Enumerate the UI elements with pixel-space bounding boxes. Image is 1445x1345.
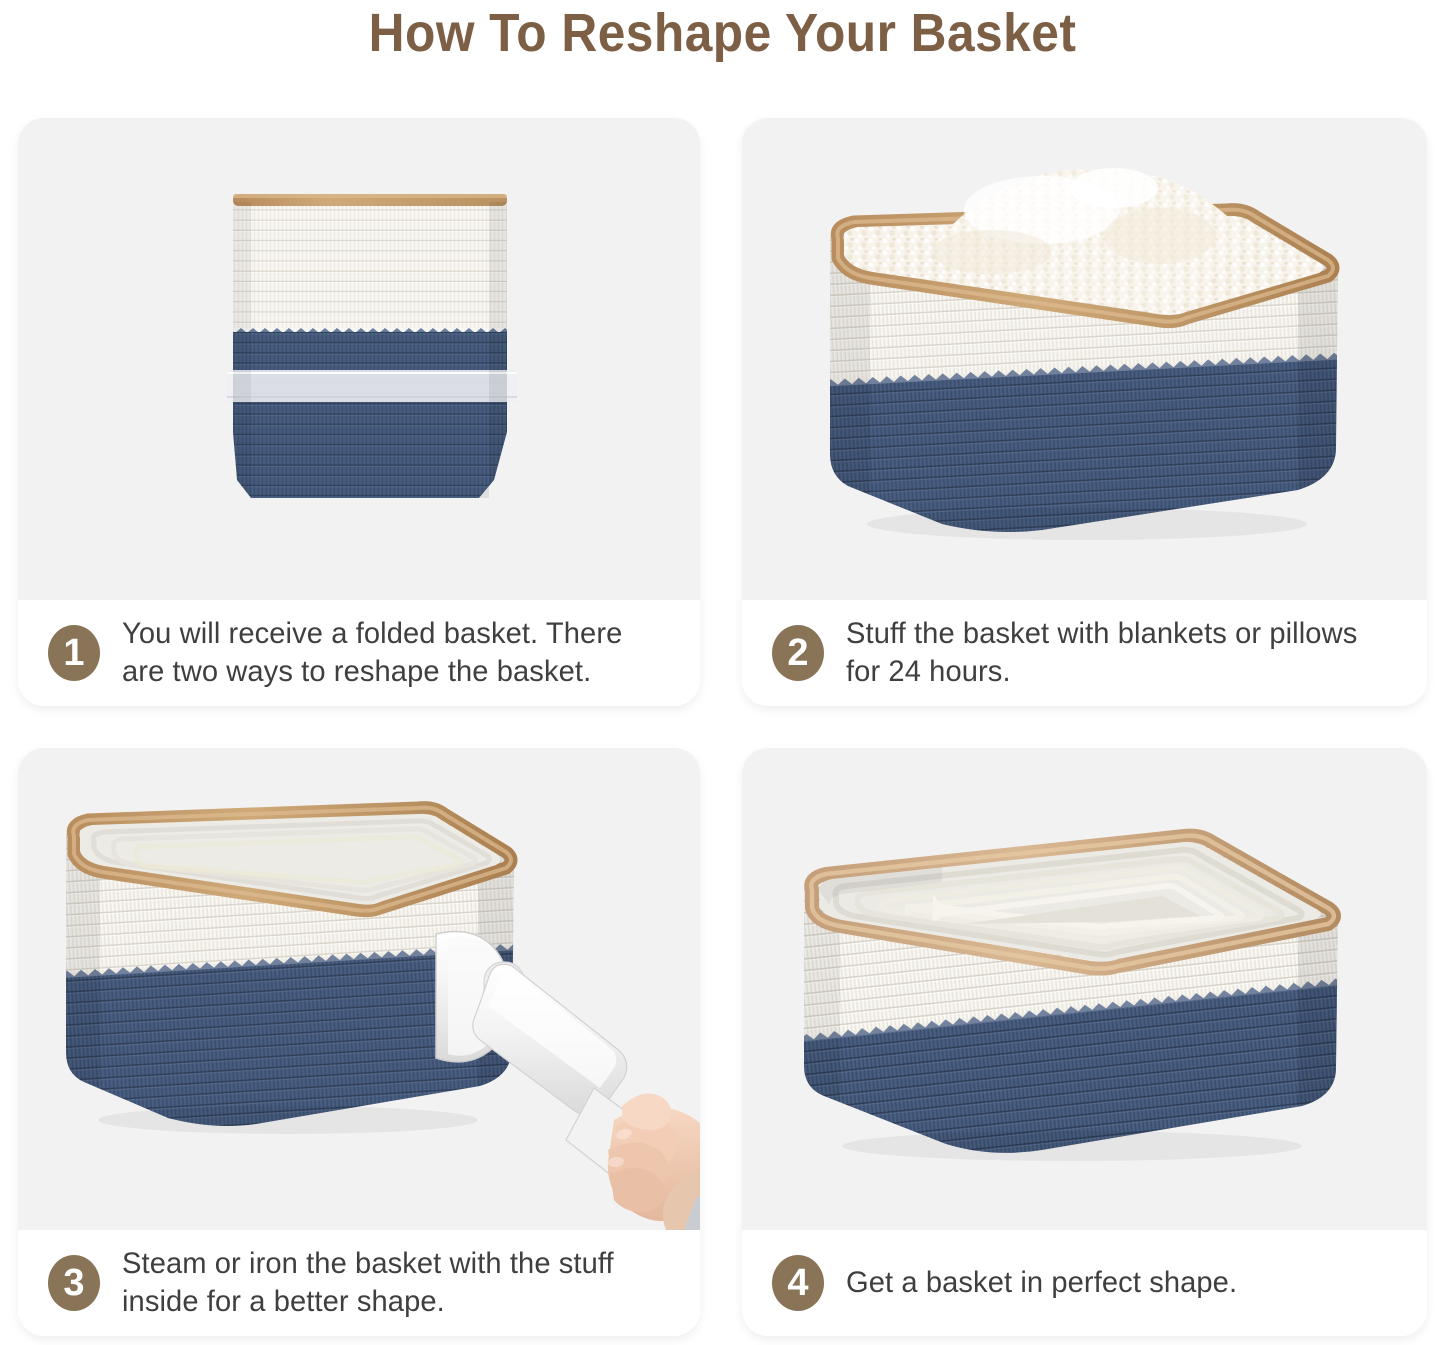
step-caption-2: 2 Stuff the basket with blankets or pill… [742,600,1427,706]
step-card-1[interactable]: 1 You will receive a folded basket. Ther… [18,118,700,706]
folded-basket-photo [18,118,700,600]
step-caption-4: 4 Get a basket in perfect shape. [742,1230,1427,1336]
step-card-4[interactable]: 4 Get a basket in perfect shape. [742,748,1427,1336]
step-caption-text-3: Steam or iron the basket with the stuff … [122,1245,657,1321]
step-caption-1: 1 You will receive a folded basket. Ther… [18,600,700,706]
step-caption-3: 3 Steam or iron the basket with the stuf… [18,1230,700,1336]
finished-basket-photo [742,748,1427,1230]
step-caption-text-1: You will receive a folded basket. There … [122,615,657,691]
page-title: How To Reshape Your Basket [58,2,1387,64]
step-number-badge-1: 1 [48,625,100,681]
steps-grid: 1 You will receive a folded basket. Ther… [0,112,1445,1345]
step-caption-text-4: Get a basket in perfect shape. [846,1264,1237,1302]
basket-being-steamed-photo [18,748,700,1230]
step-number-badge-2: 2 [772,625,824,681]
step-card-2[interactable]: 2 Stuff the basket with blankets or pill… [742,118,1427,706]
step-number-badge-4: 4 [772,1255,824,1311]
step-caption-text-2: Stuff the basket with blankets or pillow… [846,615,1384,691]
basket-stuffed-with-blankets-photo [742,118,1427,600]
step-number-badge-3: 3 [48,1255,100,1311]
step-card-3[interactable]: 3 Steam or iron the basket with the stuf… [18,748,700,1336]
